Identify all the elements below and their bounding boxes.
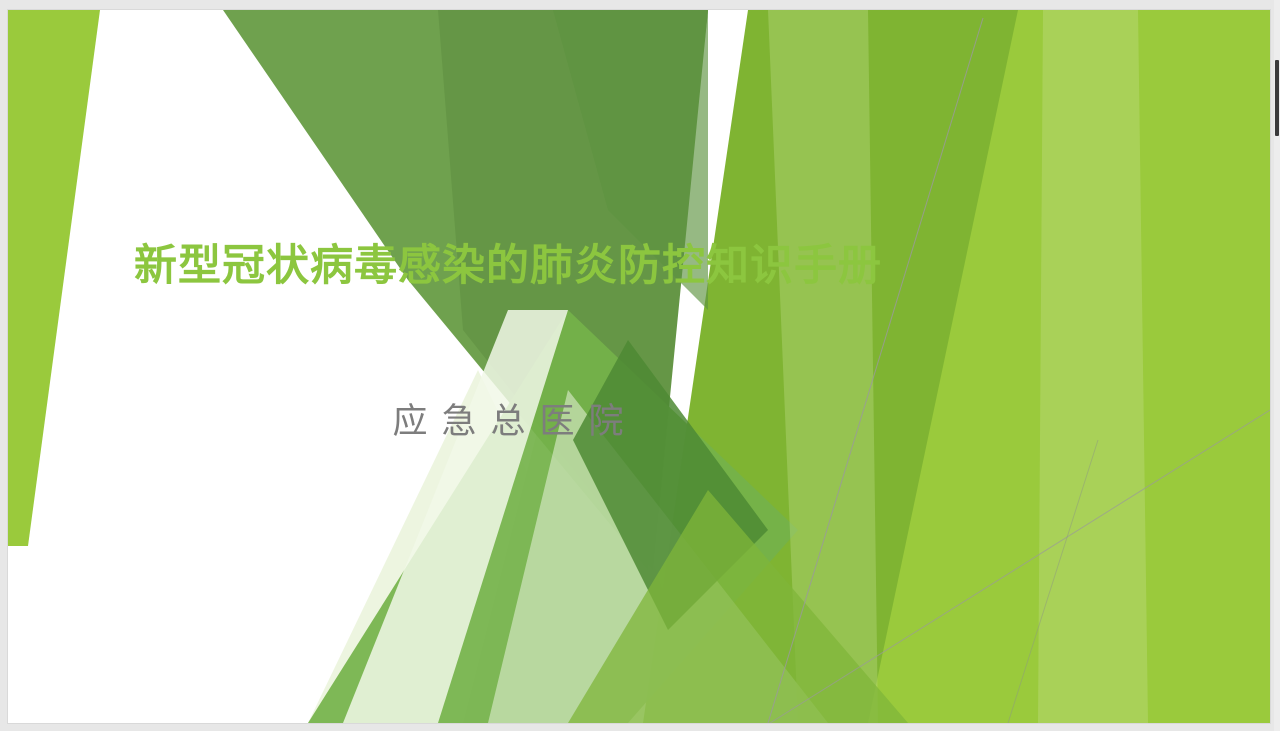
slide-text-layer: 新型冠状病毒感染的肺炎防控知识手册 应急总医院 [8,10,1270,723]
vertical-scrollbar[interactable] [1274,0,1280,731]
title-placeholder[interactable]: 新型冠状病毒感染的肺炎防控知识手册 [68,240,948,294]
subtitle-placeholder[interactable]: 应急总医院 [68,393,948,444]
slide-viewer: 新型冠状病毒感染的肺炎防控知识手册 应急总医院 [0,0,1280,731]
page-subtitle: 应急总医院 [68,393,948,444]
presentation-slide: 新型冠状病毒感染的肺炎防控知识手册 应急总医院 [8,10,1270,723]
page-title: 新型冠状病毒感染的肺炎防控知识手册 [68,240,948,294]
vertical-scrollbar-thumb[interactable] [1275,60,1279,136]
